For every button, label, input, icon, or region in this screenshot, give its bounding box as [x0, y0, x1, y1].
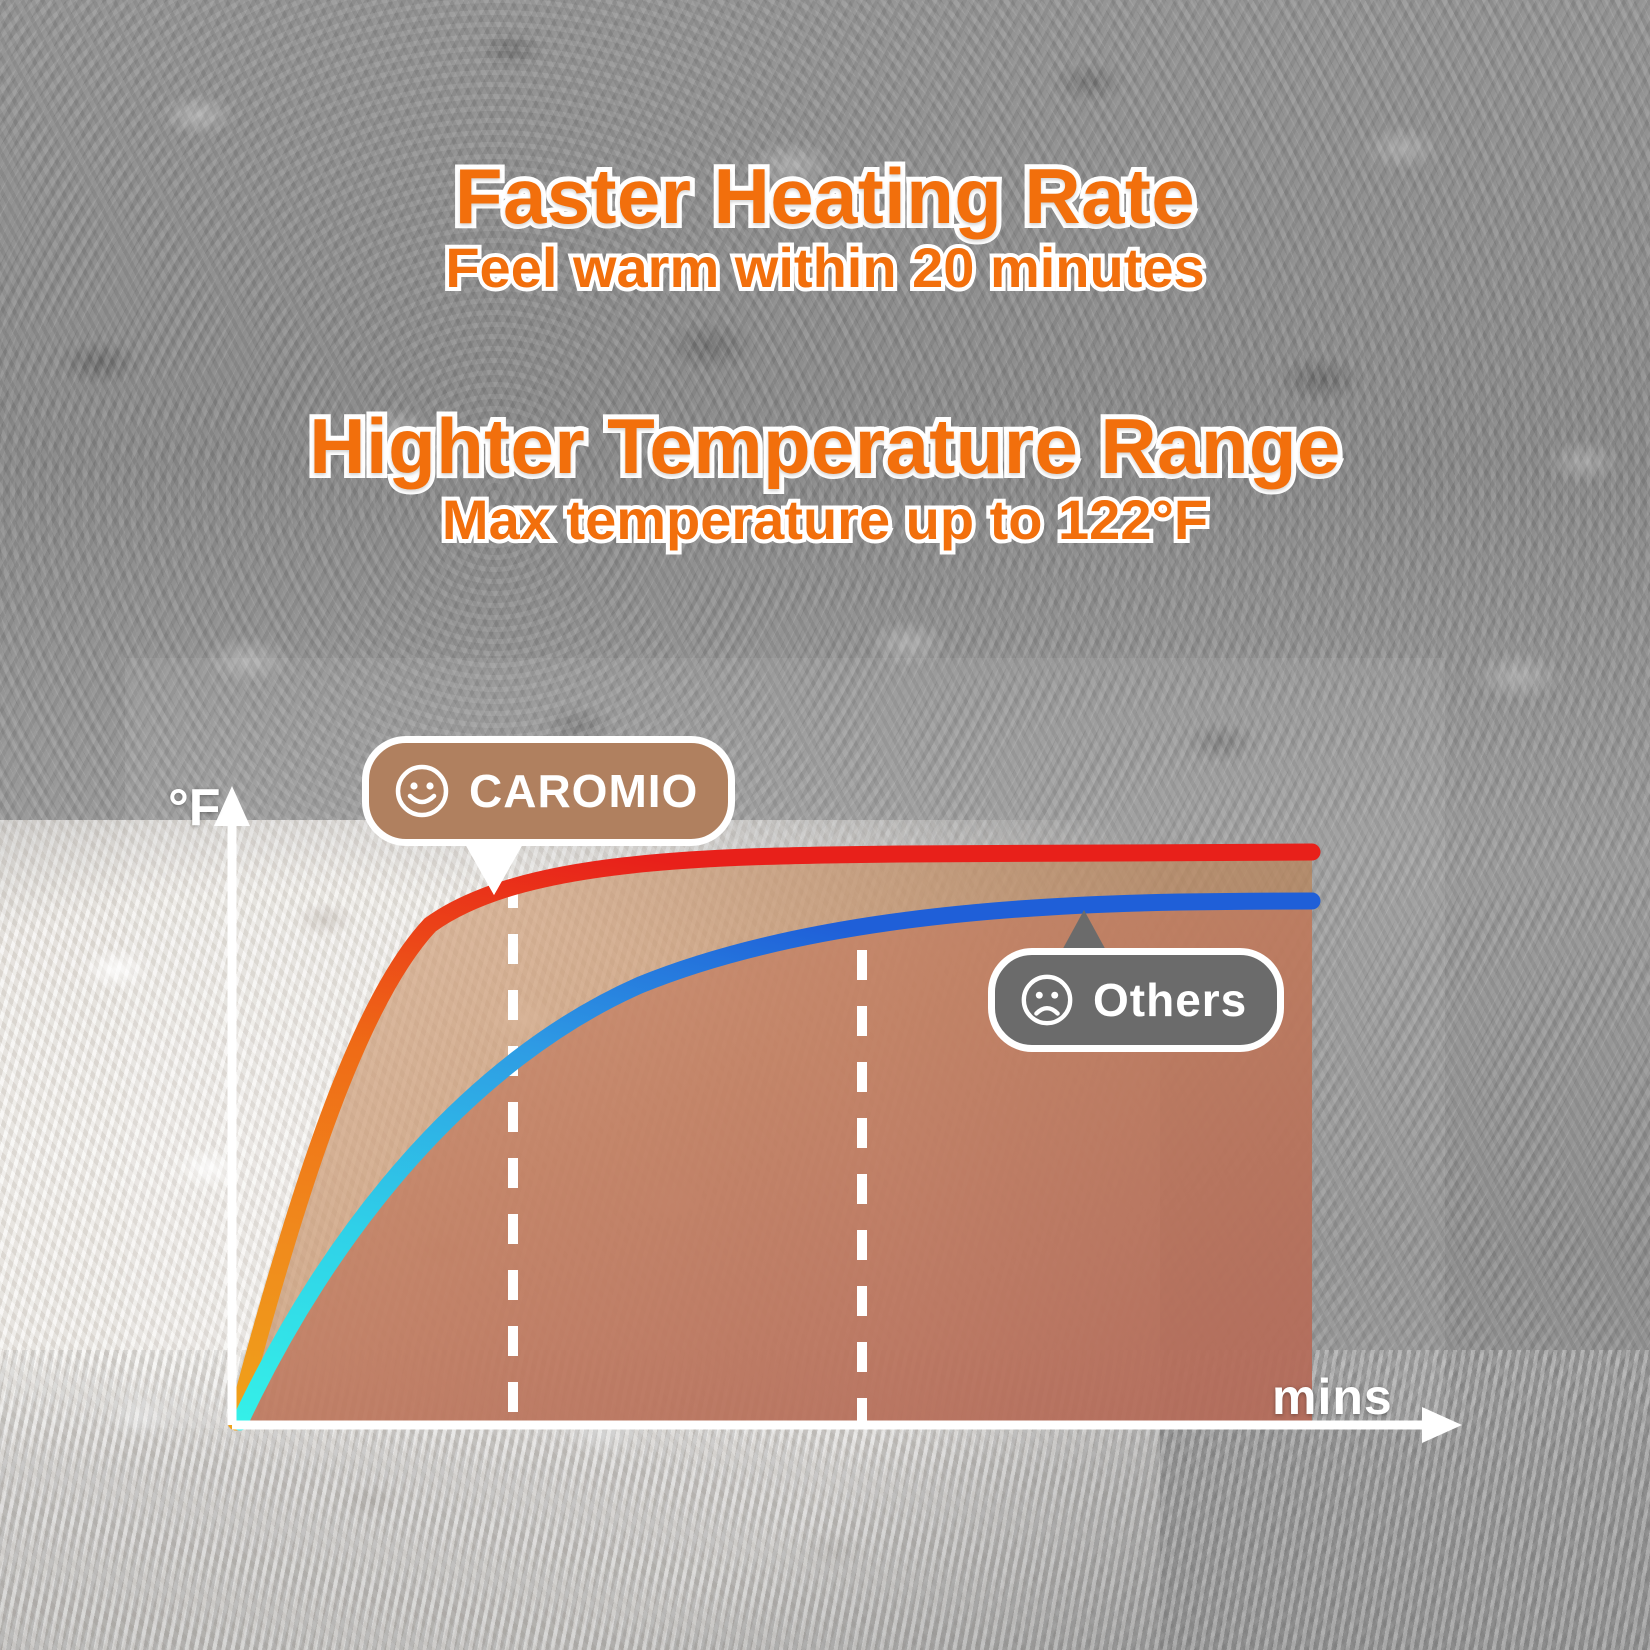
others-callout-label: Others: [1093, 977, 1247, 1023]
others-callout-badge[interactable]: Others: [988, 948, 1284, 1052]
x-axis-label: mins: [1272, 1372, 1393, 1422]
caromio-callout-badge[interactable]: CAROMIO: [362, 736, 735, 846]
product-infographic: Faster Heating Rate Feel warm within 20 …: [0, 0, 1650, 1650]
temperature-comparison-chart: °F mins CAROMIO Others: [0, 0, 1650, 1650]
y-axis-label: °F: [168, 782, 221, 834]
caromio-callout-tail: [468, 841, 520, 889]
x-axis-arrowhead: [1422, 1407, 1462, 1443]
smiley-happy-icon: [393, 762, 451, 820]
smiley-sad-icon: [1019, 972, 1075, 1028]
chart-svg: [0, 0, 1650, 1650]
caromio-callout-label: CAROMIO: [469, 768, 698, 814]
